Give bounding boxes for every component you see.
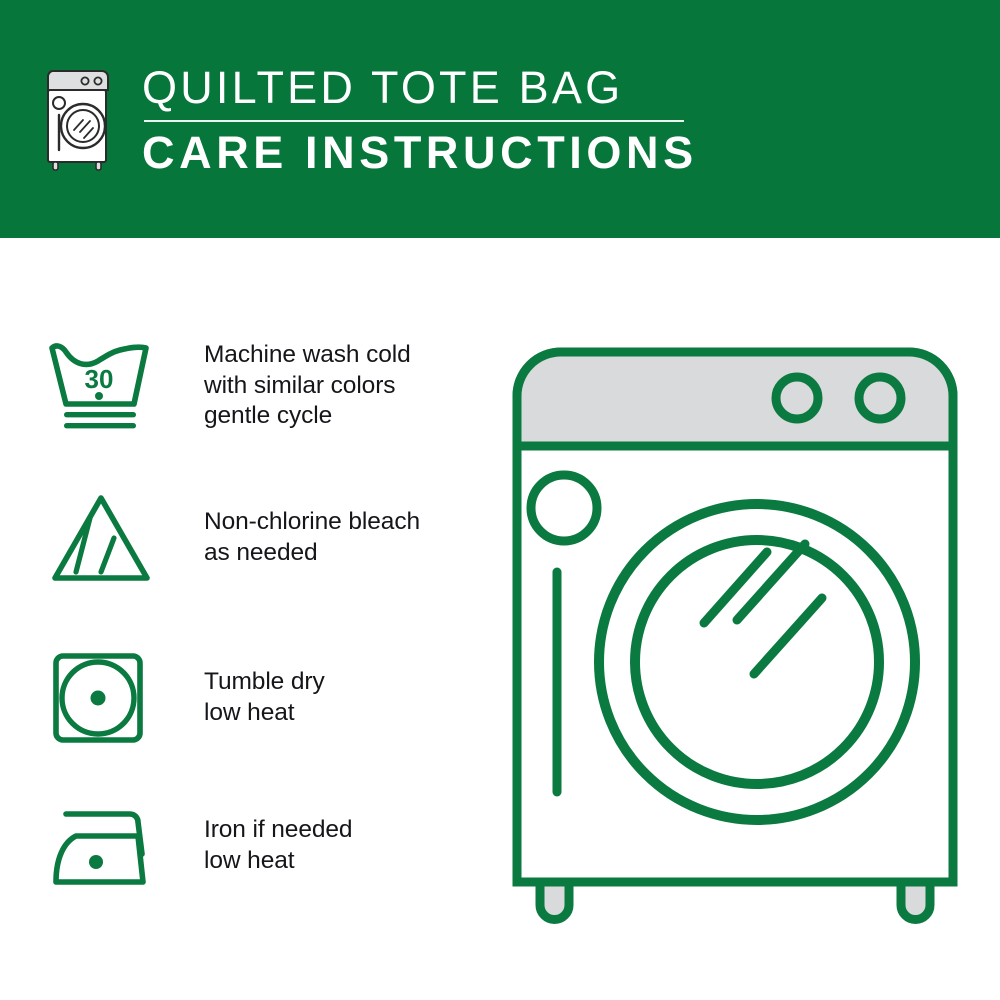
page-subtitle: CARE INSTRUCTIONS xyxy=(142,129,702,176)
wash-tub-30-gentle-icon: 30 xyxy=(46,338,158,434)
tumble-dry-low-heat-icon xyxy=(46,650,158,746)
wash-temperature-value: 30 xyxy=(85,364,114,394)
care-row-tumble-dry: Tumble dry low heat xyxy=(46,650,486,746)
machine-leg-right xyxy=(901,882,930,920)
page-title: QUILTED TOTE BAG xyxy=(142,64,702,111)
care-label-bleach: Non-chlorine bleach as needed xyxy=(204,507,420,569)
care-label-machine-wash: Machine wash cold with similar colors ge… xyxy=(204,340,411,433)
care-row-machine-wash: 30 Machine wash cold with similar colors… xyxy=(46,338,486,434)
triangle-non-chlorine-bleach-icon xyxy=(46,490,158,586)
page-header: QUILTED TOTE BAG CARE INSTRUCTIONS xyxy=(0,0,1000,238)
title-divider xyxy=(144,120,684,122)
machine-leg-left xyxy=(540,882,569,920)
care-label-tumble-dry: Tumble dry low heat xyxy=(204,667,325,729)
care-row-iron: Iron if needed low heat xyxy=(46,798,486,894)
care-instructions-list: 30 Machine wash cold with similar colors… xyxy=(0,238,500,1000)
care-label-iron: Iron if needed low heat xyxy=(204,815,352,877)
care-row-bleach: Non-chlorine bleach as needed xyxy=(46,490,486,586)
iron-low-heat-icon xyxy=(46,798,158,894)
header-text-block: QUILTED TOTE BAG CARE INSTRUCTIONS xyxy=(142,64,702,177)
front-load-washing-machine-illustration xyxy=(495,330,975,930)
washing-machine-icon xyxy=(44,68,110,172)
